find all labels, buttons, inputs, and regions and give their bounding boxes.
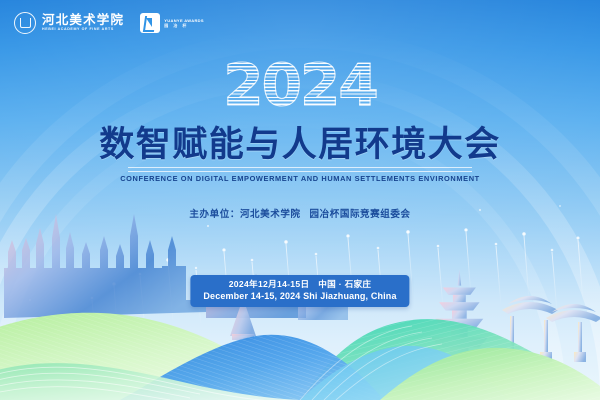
date-location-badge: 2024年12月14-15日 中国 · 石家庄 December 14-15, … xyxy=(190,275,409,307)
organizer-line: 主办单位：河北美术学院园冶杯国际竞赛组委会 xyxy=(0,206,600,220)
date-location-en: December 14-15, 2024 Shi Jiazhuang, Chin… xyxy=(203,291,396,303)
title-divider-rules xyxy=(128,167,472,172)
academy-name-en: HEBEI ACADEMY OF FINE ARTS xyxy=(42,28,124,32)
academy-name-cn: 河北美术学院 xyxy=(42,14,124,27)
yuanye-award-mark-icon xyxy=(140,13,160,33)
conference-title-cn: 数智赋能与人居环境大会 xyxy=(99,126,501,165)
header-logos: 河北美术学院 HEBEI ACADEMY OF FINE ARTS YUANYE… xyxy=(14,12,204,34)
organizer-name-1: 河北美术学院 xyxy=(240,209,301,220)
conference-title-en: CONFERENCE ON DIGITAL EMPOWERMENT AND HU… xyxy=(120,175,480,182)
academy-logo-text: 河北美术学院 HEBEI ACADEMY OF FINE ARTS xyxy=(42,14,124,31)
award-name-en: YUANYE AWARDS xyxy=(164,18,204,23)
organizer-name-2: 园冶杯国际竞赛组委会 xyxy=(310,209,411,220)
conference-poster: 河北美术学院 HEBEI ACADEMY OF FINE ARTS YUANYE… xyxy=(0,0,600,400)
award-logo-text: YUANYE AWARDS 园 冶 杯 xyxy=(164,18,204,29)
year-heading: 2024 xyxy=(223,56,376,114)
date-location-cn: 2024年12月14-15日 中国 · 石家庄 xyxy=(203,279,396,291)
award-name-cn: 园 冶 杯 xyxy=(164,24,204,28)
organizer-label: 主办单位： xyxy=(189,209,240,220)
title-block: 数智赋能与人居环境大会 CONFERENCE ON DIGITAL EMPOWE… xyxy=(0,126,600,183)
academy-seal-icon xyxy=(14,12,36,34)
award-logo[interactable]: YUANYE AWARDS 园 冶 杯 xyxy=(140,13,204,33)
academy-logo[interactable]: 河北美术学院 HEBEI ACADEMY OF FINE ARTS xyxy=(14,12,124,34)
year-heading-wrap: 2024 xyxy=(0,56,600,114)
